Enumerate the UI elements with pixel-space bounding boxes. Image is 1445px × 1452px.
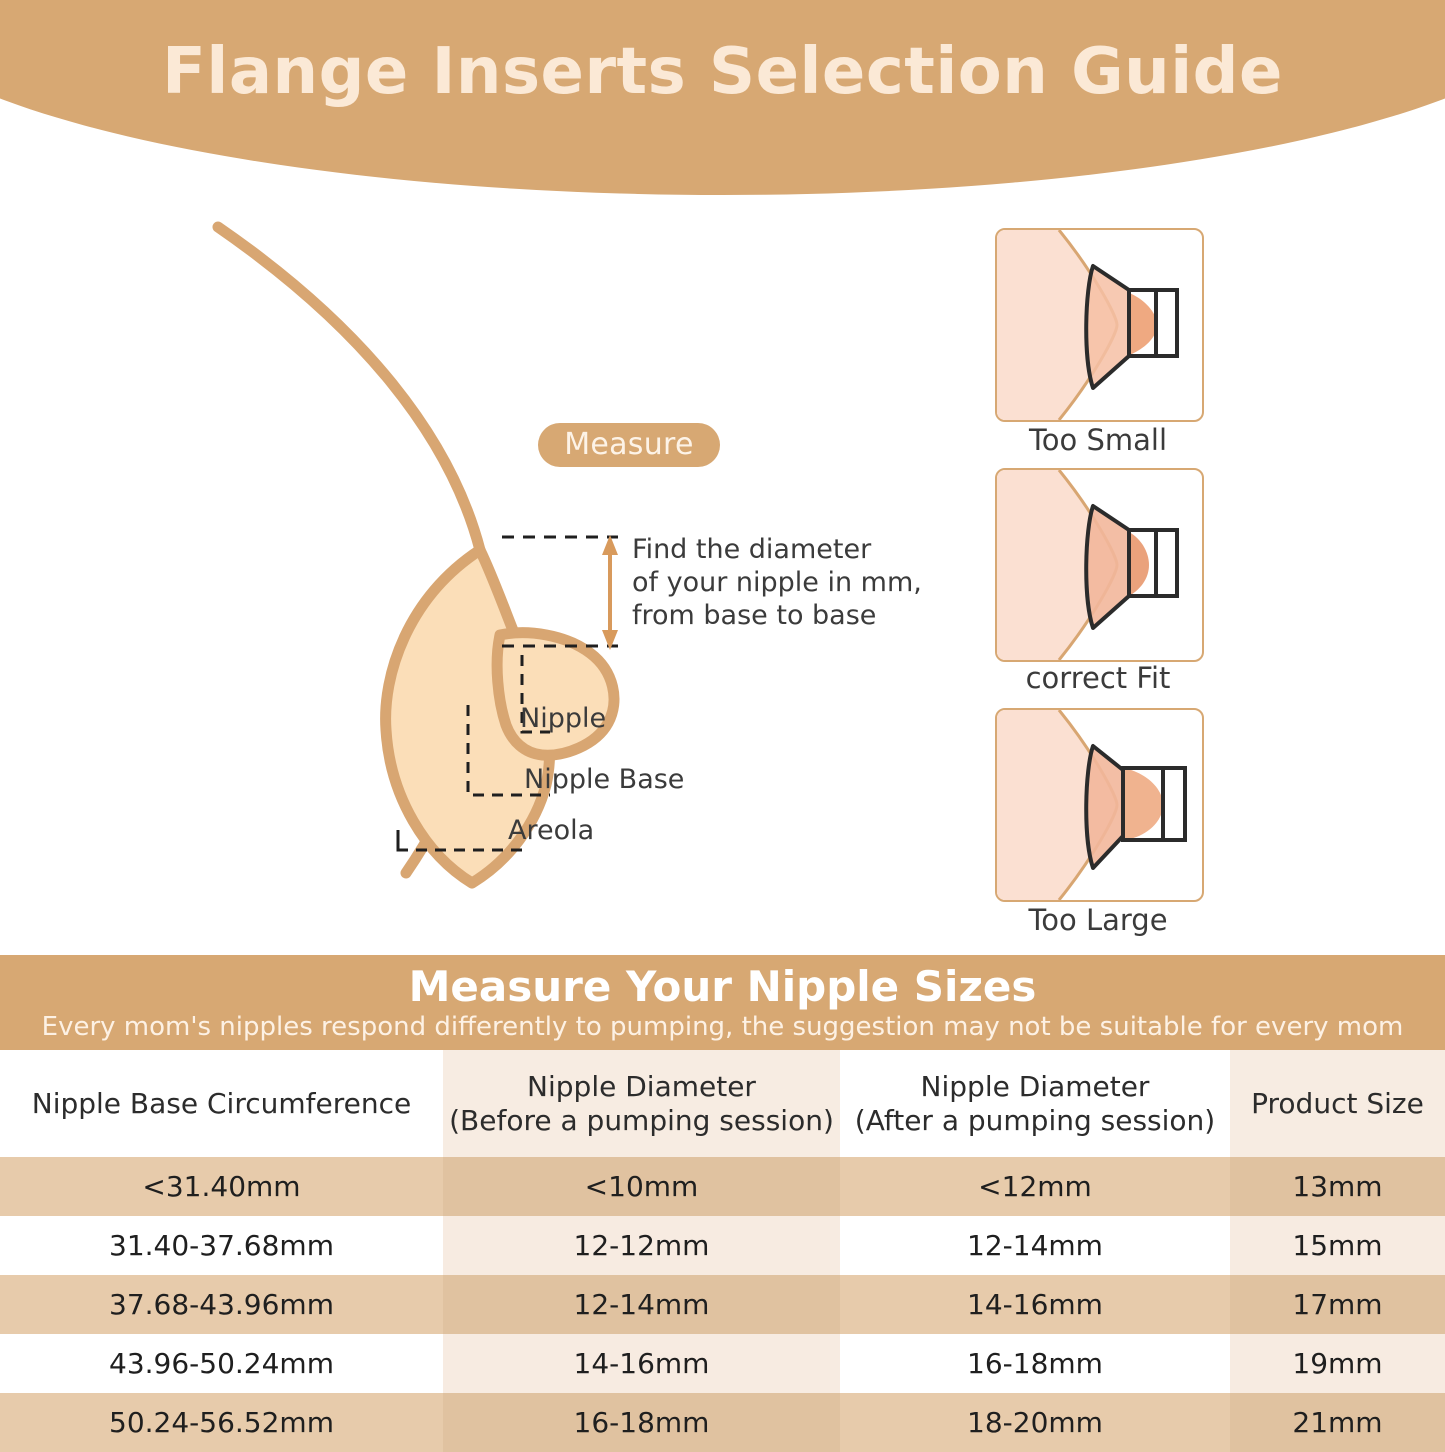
table-row: 37.68-43.96mm 12-14mm 14-16mm 17mm	[0, 1275, 1445, 1334]
diameter-arrow	[602, 535, 618, 650]
column-header-product-size: Product Size	[1230, 1050, 1445, 1157]
cell-after: 12-14mm	[840, 1216, 1230, 1275]
compressed-nipple-small	[1127, 292, 1157, 356]
nipple-shape	[497, 633, 614, 755]
measure-instruction: Find the diameter of your nipple in mm, …	[632, 533, 962, 632]
table-row: 43.96-50.24mm 14-16mm 16-18mm 19mm	[0, 1334, 1445, 1393]
too-small-illustration	[997, 230, 1202, 420]
cell-circumference: 43.96-50.24mm	[0, 1334, 443, 1393]
nipple-pulled-in-large	[1123, 768, 1163, 840]
column-header-after: Nipple Diameter (After a pumping session…	[840, 1050, 1230, 1157]
measure-instruction-line-3: from base to base	[632, 599, 962, 632]
table-row: <31.40mm <10mm <12mm 13mm	[0, 1157, 1445, 1216]
cell-before: <10mm	[443, 1157, 840, 1216]
measure-instruction-line-1: Find the diameter	[632, 533, 962, 566]
measure-badge: Measure	[538, 423, 720, 467]
flange-tube-b-large	[1163, 768, 1185, 840]
fit-card-too-small	[995, 228, 1204, 422]
label-areola: Areola	[508, 815, 594, 846]
column-header-circumference-line1: Nipple Base Circumference	[1, 1087, 442, 1121]
too-large-illustration	[997, 710, 1202, 900]
cell-after: 14-16mm	[840, 1275, 1230, 1334]
column-header-product-size-line1: Product Size	[1231, 1087, 1444, 1121]
table-header-row: Nipple Base Circumference Nipple Diamete…	[0, 1050, 1445, 1157]
cell-before: 12-12mm	[443, 1216, 840, 1275]
correct-fit-illustration	[997, 470, 1202, 660]
cell-after: 16-18mm	[840, 1334, 1230, 1393]
cell-circumference: <31.40mm	[0, 1157, 443, 1216]
table-banner-title: Measure Your Nipple Sizes	[0, 962, 1445, 1011]
cell-product-size: 13mm	[1230, 1157, 1445, 1216]
cell-circumference: 31.40-37.68mm	[0, 1216, 443, 1275]
cell-product-size: 15mm	[1230, 1216, 1445, 1275]
cell-before: 16-18mm	[443, 1393, 840, 1452]
flange-tube-b-correct	[1156, 530, 1177, 596]
column-header-before-line1: Nipple Diameter	[444, 1070, 839, 1104]
cell-before: 14-16mm	[443, 1334, 840, 1393]
sizes-table-section: Measure Your Nipple Sizes Every mom's ni…	[0, 955, 1445, 1445]
label-nipple: Nipple	[520, 703, 606, 734]
page-title: Flange Inserts Selection Guide	[0, 0, 1445, 145]
cell-product-size: 17mm	[1230, 1275, 1445, 1334]
column-header-after-line1: Nipple Diameter	[841, 1070, 1229, 1104]
cell-circumference: 50.24-56.52mm	[0, 1393, 443, 1452]
illustration-area: Measure Find the diameter of your nipple…	[0, 195, 1445, 955]
cell-after: <12mm	[840, 1157, 1230, 1216]
table-row: 50.24-56.52mm 16-18mm 18-20mm 21mm	[0, 1393, 1445, 1452]
table-banner-subtitle: Every mom's nipples respond differently …	[0, 1012, 1445, 1042]
nipple-in-tunnel-correct	[1129, 532, 1149, 596]
cell-product-size: 21mm	[1230, 1393, 1445, 1452]
column-header-before: Nipple Diameter (Before a pumping sessio…	[443, 1050, 840, 1157]
cell-product-size: 19mm	[1230, 1334, 1445, 1393]
table-row: 31.40-37.68mm 12-12mm 12-14mm 15mm	[0, 1216, 1445, 1275]
cell-circumference: 37.68-43.96mm	[0, 1275, 443, 1334]
column-header-before-line2: (Before a pumping session)	[444, 1104, 839, 1138]
fit-card-correct-fit	[995, 468, 1204, 662]
flange-tube-b-small	[1156, 290, 1177, 356]
column-header-circumference: Nipple Base Circumference	[0, 1050, 443, 1157]
column-header-after-line2: (After a pumping session)	[841, 1104, 1229, 1138]
fit-label-too-small: Too Small	[968, 423, 1228, 457]
cell-after: 18-20mm	[840, 1393, 1230, 1452]
nipple-sizes-table: Nipple Base Circumference Nipple Diamete…	[0, 1050, 1445, 1452]
fit-label-too-large: Too Large	[968, 903, 1228, 937]
page-header: Flange Inserts Selection Guide	[0, 0, 1445, 195]
fit-label-correct-fit: correct Fit	[968, 661, 1228, 695]
measure-instruction-line-2: of your nipple in mm,	[632, 566, 962, 599]
cell-before: 12-14mm	[443, 1275, 840, 1334]
fit-card-too-large	[995, 708, 1204, 902]
label-nipple-base: Nipple Base	[524, 764, 684, 795]
